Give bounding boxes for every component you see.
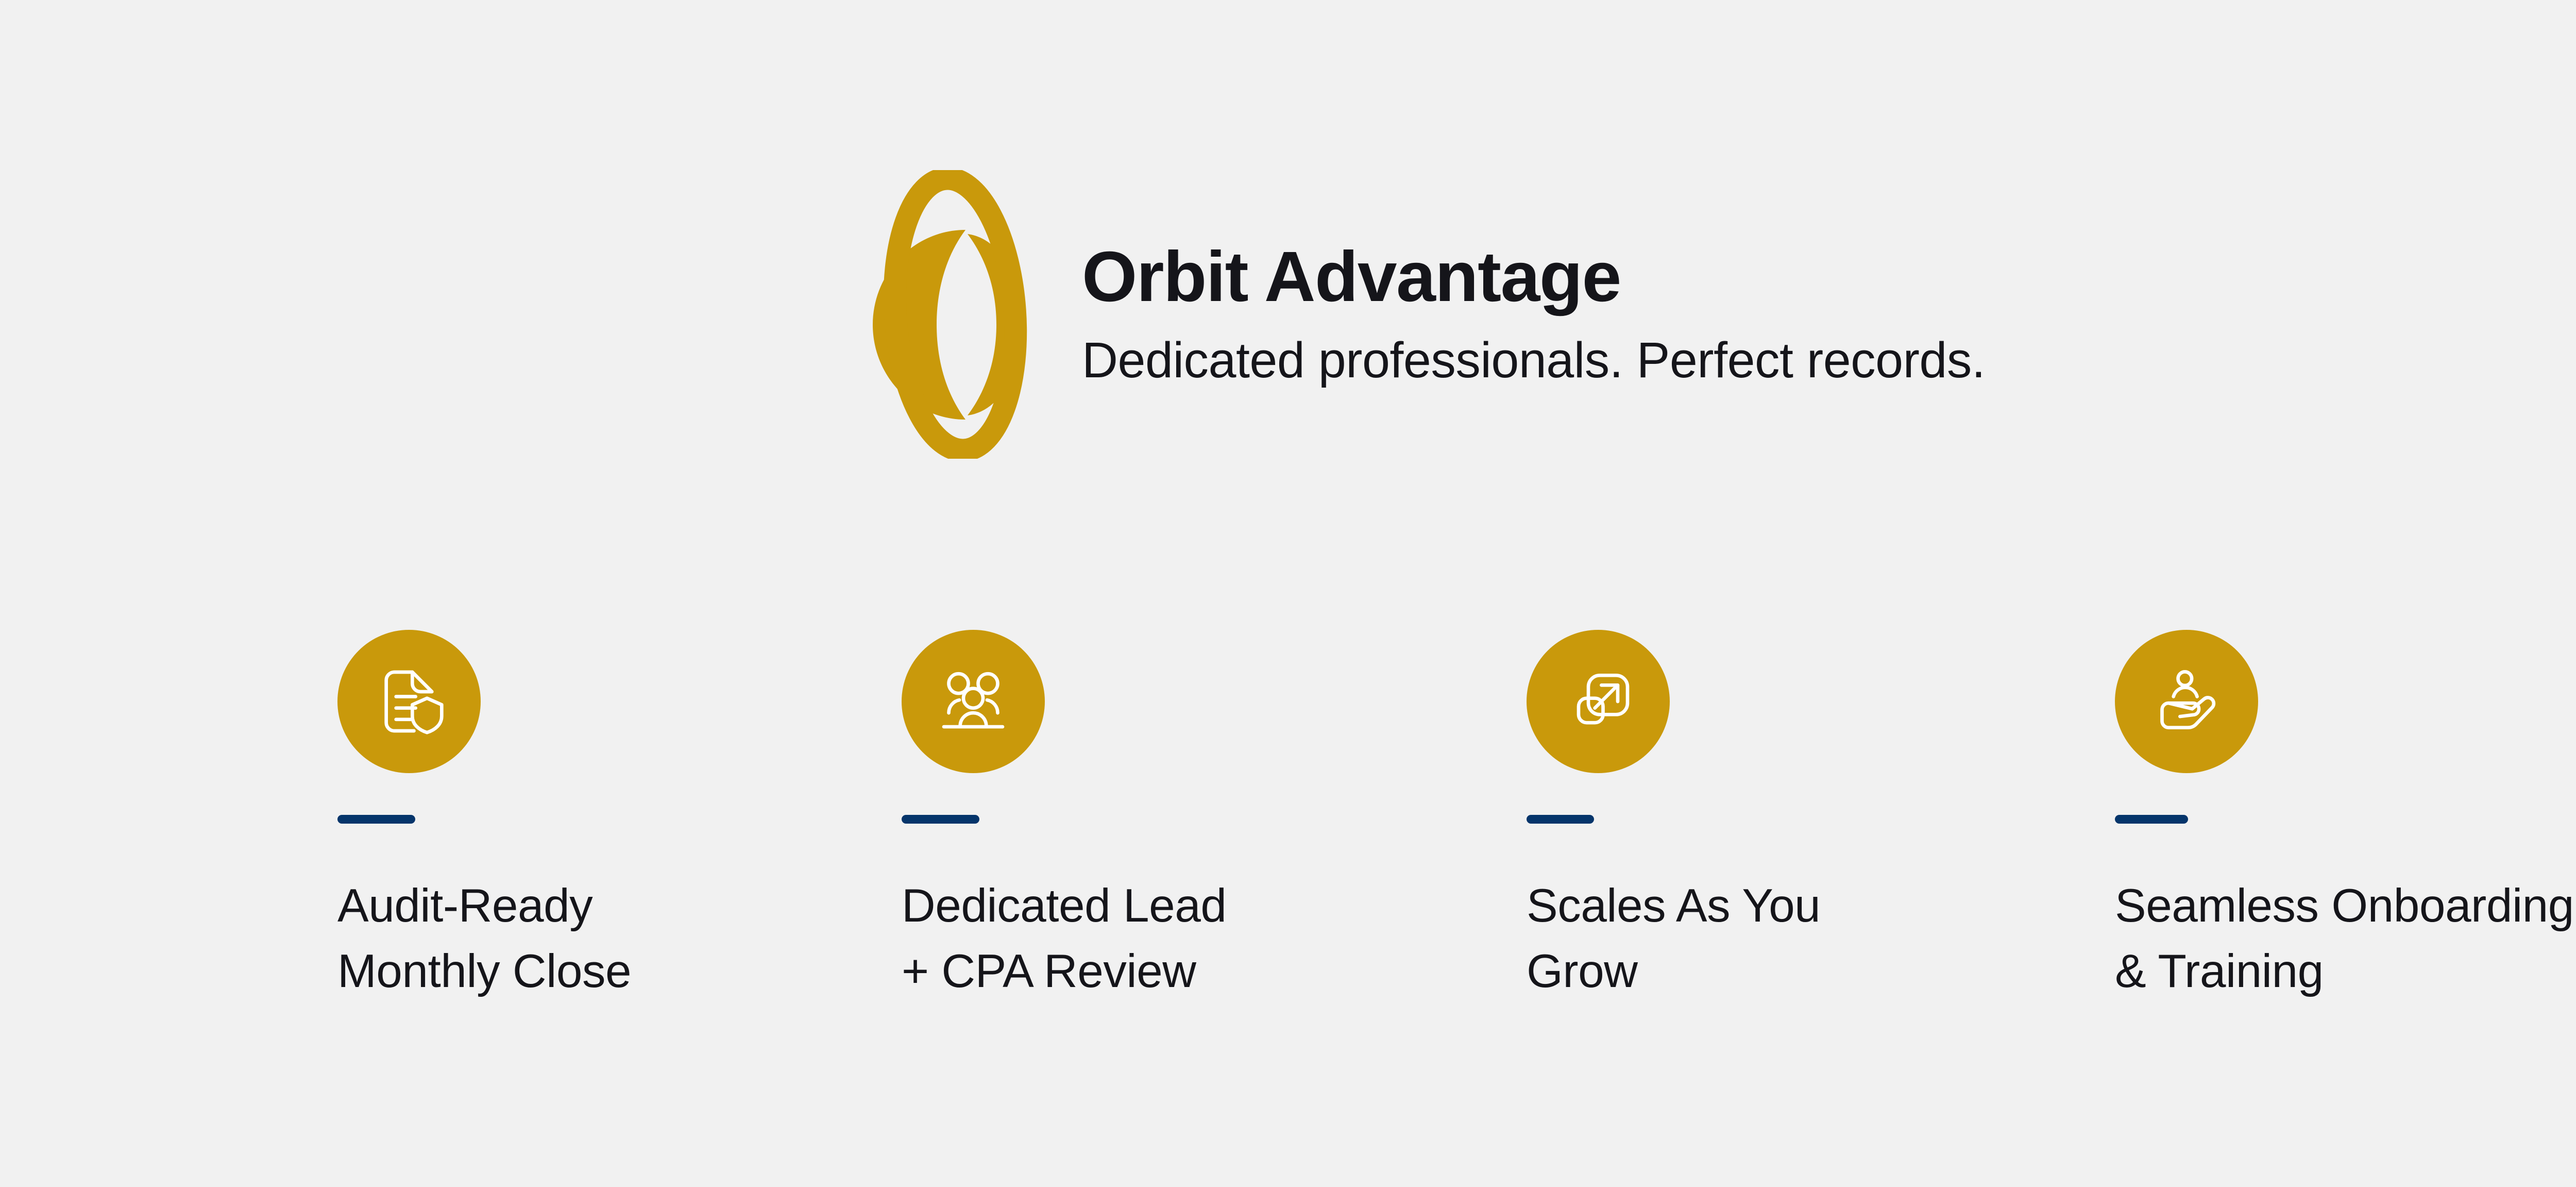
feature-divider bbox=[902, 815, 979, 824]
page-title: Orbit Advantage bbox=[1082, 241, 1985, 312]
feature-item-dedicated-lead: Dedicated Lead + CPA Review bbox=[902, 630, 1227, 1005]
feature-item-seamless-onboarding: Seamless Onboarding & Training bbox=[2115, 630, 2574, 1005]
feature-label: Dedicated Lead + CPA Review bbox=[902, 873, 1227, 1005]
hand-person-icon bbox=[2147, 662, 2226, 741]
feature-divider bbox=[337, 815, 415, 824]
feature-divider bbox=[1527, 815, 1594, 824]
feature-icon-badge bbox=[2115, 630, 2258, 773]
orbit-planet-logo-icon bbox=[844, 170, 1050, 459]
document-shield-icon bbox=[370, 662, 448, 741]
feature-icon-badge bbox=[337, 630, 481, 773]
feature-label: Seamless Onboarding & Training bbox=[2115, 873, 2574, 1005]
orbit-advantage-section: Orbit Advantage Dedicated professionals.… bbox=[0, 0, 2576, 1187]
feature-item-audit-ready: Audit-Ready Monthly Close bbox=[337, 630, 631, 1005]
feature-list: Audit-Ready Monthly Close Dedicated Lead… bbox=[0, 630, 2576, 1042]
feature-icon-badge bbox=[902, 630, 1045, 773]
scale-expand-arrow-icon bbox=[1559, 662, 1637, 741]
feature-divider bbox=[2115, 815, 2188, 824]
feature-item-scales-as-you-grow: Scales As You Grow bbox=[1527, 630, 1820, 1005]
brand-header: Orbit Advantage Dedicated professionals.… bbox=[844, 170, 1985, 459]
people-group-icon bbox=[934, 662, 1012, 741]
brand-text-block: Orbit Advantage Dedicated professionals.… bbox=[1082, 241, 1985, 388]
page-subtitle: Dedicated professionals. Perfect records… bbox=[1082, 335, 1985, 385]
feature-label: Audit-Ready Monthly Close bbox=[337, 873, 631, 1005]
feature-icon-badge bbox=[1527, 630, 1670, 773]
feature-label: Scales As You Grow bbox=[1527, 873, 1820, 1005]
